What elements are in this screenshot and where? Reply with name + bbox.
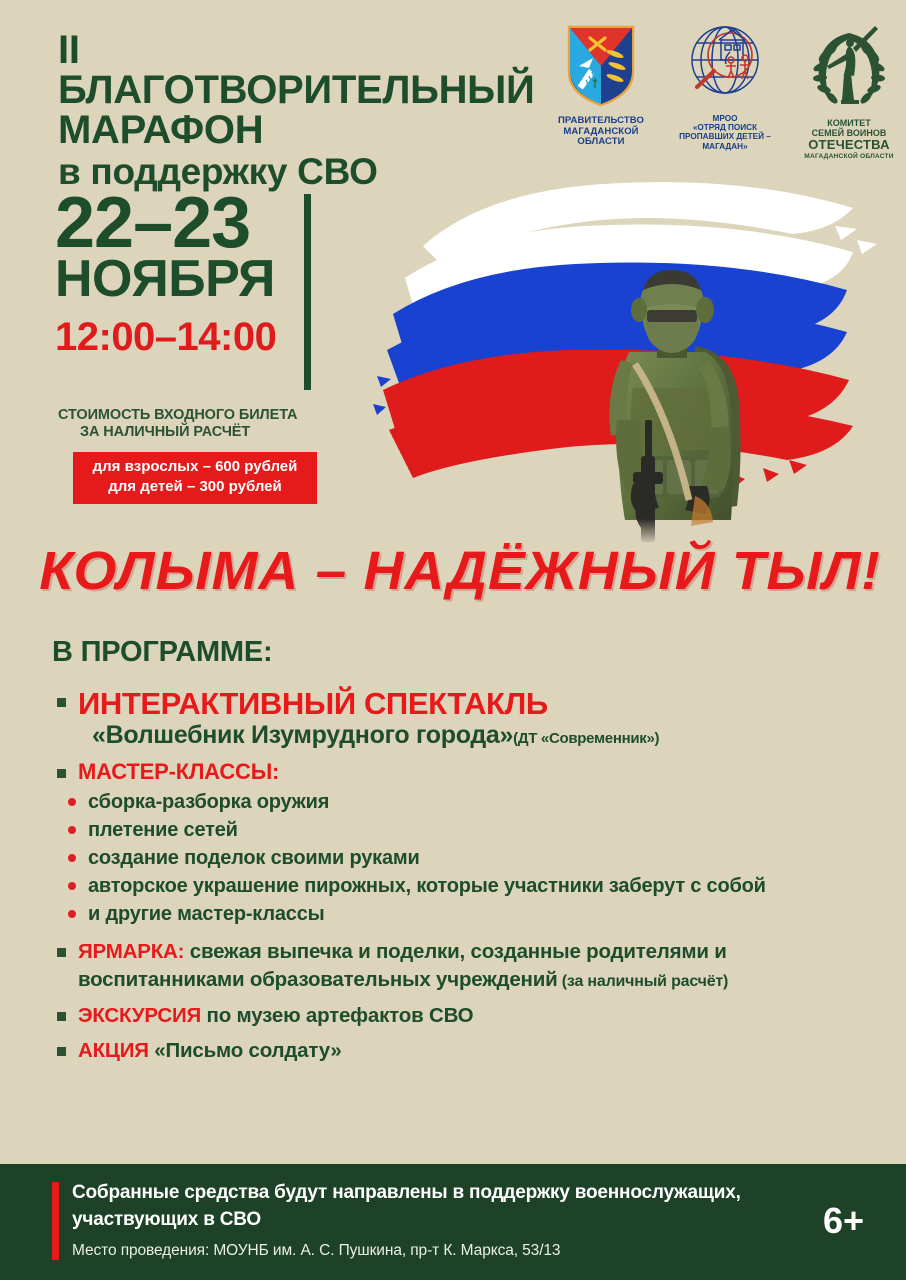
round-bullet-icon (68, 826, 76, 834)
age-rating-badge: 6+ (823, 1200, 864, 1242)
program-item-action: АКЦИЯ «Письмо солдату» (52, 1037, 882, 1065)
headline-line-2: МАРАФОН (58, 110, 538, 150)
footer-statement: Собранные средства будут направлены в по… (72, 1180, 812, 1234)
list-item: создание поделок своими руками (60, 845, 882, 872)
partner-logos: ПРАВИТЕЛЬСТВО МАГАДАНСКОЙ ОБЛАСТИ (545, 24, 905, 174)
ticket-price-box: для взрослых – 600 рублей для детей – 30… (73, 452, 317, 504)
poster-canvas: II БЛАГОТВОРИТЕЛЬНЫЙ МАРАФОН в поддержку… (0, 0, 906, 1280)
action-text: АКЦИЯ «Письмо солдату» (78, 1037, 882, 1065)
price-adults: для взрослых – 600 рублей (73, 457, 317, 477)
round-bullet-icon (68, 798, 76, 806)
spectacle-subtitle: «Волшебник Изумрудного города»(ДТ «Совре… (92, 721, 882, 750)
fair-label: ЯРМАРКА: (78, 940, 184, 963)
spectacle-heading: ИНТЕРАКТИВНЫЙ СПЕКТАКЛЬ (78, 688, 882, 721)
poster-footer: Собранные средства будут направлены в по… (0, 1164, 906, 1280)
logo-mroo-search-squad: МРОО «ОТРЯД ПОИСК ПРОПАВШИХ ДЕТЕЙ – МАГА… (669, 24, 781, 151)
fair-note: (за наличный расчёт) (558, 973, 729, 990)
main-slogan: КОЛЫМА – НАДЁЖНЫЙ ТЫЛ! (32, 540, 889, 602)
round-bullet-icon (68, 910, 76, 918)
globe-magnifier-icon (683, 24, 767, 111)
logo-caption-committee: КОМИТЕТ СЕМЕЙ ВОИНОВ ОТЕЧЕСТВА МАГАДАНСК… (804, 118, 893, 160)
square-bullet-icon (57, 769, 66, 778)
list-item: плетение сетей (60, 817, 882, 844)
logo-caption-mroo: МРОО «ОТРЯД ПОИСК ПРОПАВШИХ ДЕТЕЙ – МАГА… (679, 114, 771, 151)
flag-soldier-artwork (365, 160, 906, 560)
event-month: НОЯБРЯ (55, 255, 315, 304)
program-title: В ПРОГРАММЕ: (52, 636, 272, 669)
program-item-masterclasses: МАСТЕР-КЛАССЫ: (52, 759, 882, 785)
footer-venue: Место проведения: МОУНБ им. А. С. Пушкин… (72, 1242, 772, 1261)
program-item-excursion: ЭКСКУРСИЯ по музею артефактов СВО (52, 1002, 882, 1030)
event-date-block: 22–23 НОЯБРЯ 12:00–14:00 (55, 192, 315, 357)
motherland-statue-laurel-icon (805, 24, 893, 115)
ticket-price-caption: СТОИМОСТЬ ВХОДНОГО БИЛЕТА ЗА НАЛИЧНЫЙ РА… (58, 407, 318, 442)
masterclasses-heading: МАСТЕР-КЛАССЫ: (78, 759, 882, 785)
magadan-coat-of-arms-icon (565, 24, 637, 113)
price-children: для детей – 300 рублей (73, 477, 317, 497)
square-bullet-icon (57, 698, 66, 707)
vertical-divider (304, 194, 311, 390)
round-bullet-icon (68, 854, 76, 862)
square-bullet-icon (57, 1047, 66, 1056)
square-bullet-icon (57, 948, 66, 957)
program-item-fair: ЯРМАРКА: свежая выпечка и поделки, созда… (52, 938, 898, 993)
soldier-illustration (577, 260, 777, 545)
event-days: 22–23 (55, 192, 315, 255)
excursion-label: ЭКСКУРСИЯ (78, 1004, 201, 1027)
event-time: 12:00–14:00 (55, 317, 315, 357)
headline-line-1: II БЛАГОТВОРИТЕЛЬНЫЙ (58, 30, 538, 110)
list-item: сборка-разборка оружия (60, 789, 882, 816)
square-bullet-icon (57, 1012, 66, 1021)
logo-magadan-government: ПРАВИТЕЛЬСТВО МАГАДАНСКОЙ ОБЛАСТИ (545, 24, 657, 148)
program-list: ИНТЕРАКТИВНЫЙ СПЕКТАКЛЬ «Волшебник Изумр… (52, 688, 882, 1067)
fair-text: ЯРМАРКА: свежая выпечка и поделки, созда… (78, 938, 898, 993)
program-item-spectacle: ИНТЕРАКТИВНЫЙ СПЕКТАКЛЬ «Волшебник Изумр… (52, 688, 882, 749)
excursion-text: ЭКСКУРСИЯ по музею артефактов СВО (78, 1002, 882, 1030)
action-label: АКЦИЯ (78, 1039, 149, 1062)
list-item: и другие мастер-классы (60, 901, 882, 928)
spectacle-venue-note: (ДТ «Современник») (513, 730, 659, 747)
logo-committee-soldiers-families: КОМИТЕТ СЕМЕЙ ВОИНОВ ОТЕЧЕСТВА МАГАДАНСК… (793, 24, 905, 160)
logo-caption-government: ПРАВИТЕЛЬСТВО МАГАДАНСКОЙ ОБЛАСТИ (545, 116, 657, 148)
list-item: авторское украшение пирожных, которые уч… (60, 873, 788, 900)
footer-accent-bar (52, 1182, 59, 1260)
round-bullet-icon (68, 882, 76, 890)
